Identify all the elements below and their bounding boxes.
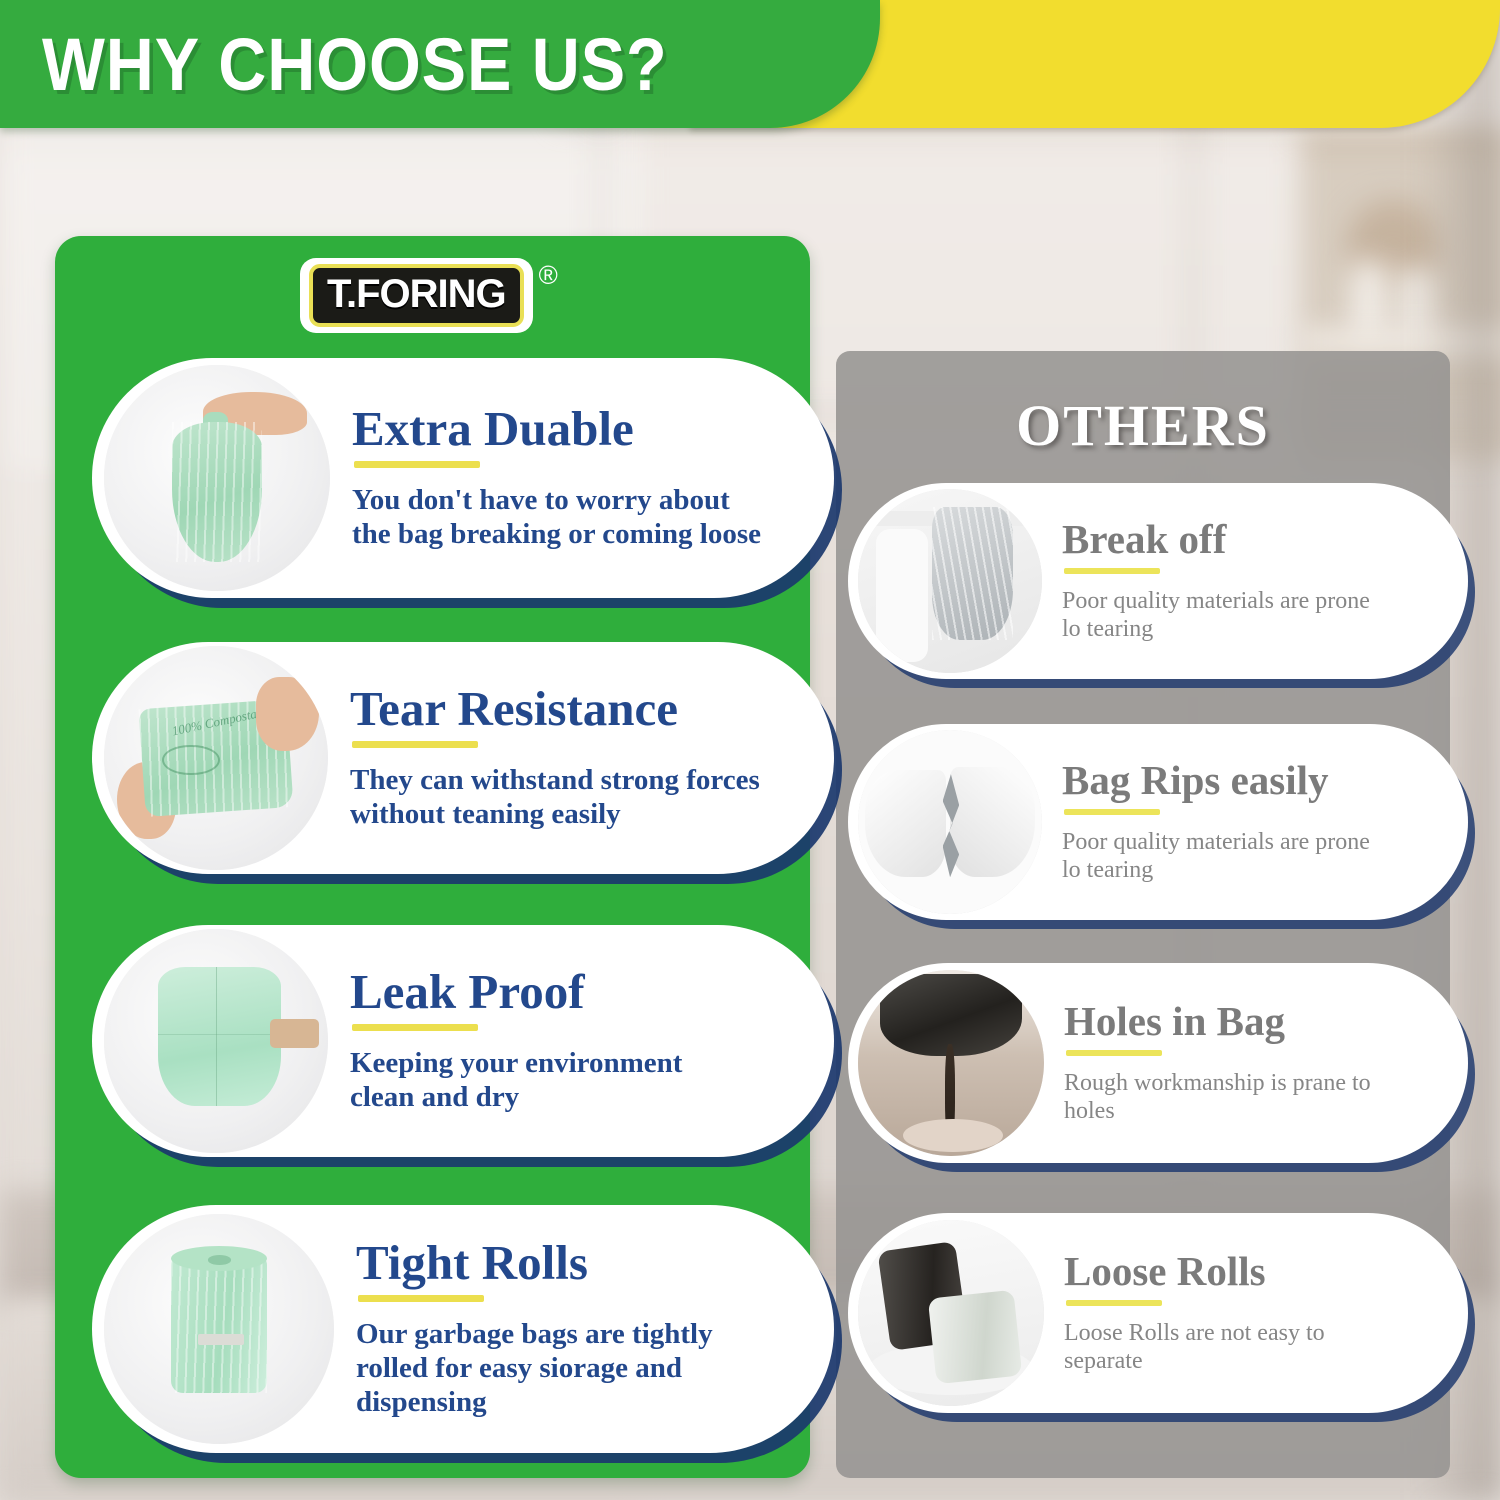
title-underline <box>352 741 478 748</box>
other-card-bag-rips-easily[interactable]: Bag Rips easily Poor quality materials a… <box>848 724 1468 920</box>
title-underline <box>1064 809 1160 815</box>
other-title: Break off <box>1062 519 1444 561</box>
feature-card-text: Leak Proof Keeping your environment clea… <box>328 967 804 1115</box>
feature-card-tear-resistance[interactable]: 100% Compostable Tear Resistance They ca… <box>92 642 834 874</box>
other-title: Holes in Bag <box>1064 1001 1444 1043</box>
other-title: Loose Rolls <box>1064 1251 1444 1293</box>
feature-card-text: Tight Rolls Our garbage bags are tightly… <box>334 1238 804 1420</box>
other-card-text: Loose Rolls Loose Rolls are not easy to … <box>1044 1251 1444 1375</box>
feature-body: They can withstand strong forces without… <box>350 764 770 832</box>
feature-card-text: Extra Duable You don't have to worry abo… <box>330 404 804 552</box>
bag-holding-water-photo <box>104 929 328 1153</box>
feature-title: Tight Rolls <box>356 1238 804 1288</box>
other-body: Poor quality materials are prone lo tear… <box>1062 587 1392 643</box>
other-card-loose-rolls[interactable]: Loose Rolls Loose Rolls are not easy to … <box>848 1213 1468 1413</box>
other-card-text: Break off Poor quality materials are pro… <box>1042 519 1444 643</box>
other-card-holes-in-bag[interactable]: Holes in Bag Rough workmanship is prane … <box>848 963 1468 1163</box>
hand-holding-green-bag-photo <box>104 365 330 591</box>
logo-plate: T.FORING <box>300 258 533 333</box>
black-bag-leaking-photo <box>858 970 1044 1156</box>
other-body: Loose Rolls are not easy to separate <box>1064 1319 1384 1375</box>
feature-card-tight-rolls[interactable]: Tight Rolls Our garbage bags are tightly… <box>92 1205 834 1453</box>
title-underline <box>1066 1050 1162 1056</box>
other-body: Rough workmanship is prane to holes <box>1064 1069 1384 1125</box>
feature-title: Leak Proof <box>350 967 804 1017</box>
title-underline <box>1066 1300 1162 1306</box>
title-underline <box>1064 568 1160 574</box>
other-card-text: Bag Rips easily Poor quality materials a… <box>1042 760 1444 884</box>
ripped-white-bag-photo <box>858 730 1042 914</box>
title-underline <box>354 461 480 468</box>
feature-title: Extra Duable <box>352 404 804 454</box>
feature-body: Our garbage bags are tightly rolled for … <box>356 1318 756 1420</box>
logo-inner-plate: T.FORING <box>309 264 524 327</box>
loose-rolls-photo <box>858 1220 1044 1406</box>
header-banner: WHY CHOOSE US? <box>0 0 880 128</box>
feature-card-leak-proof[interactable]: Leak Proof Keeping your environment clea… <box>92 925 834 1157</box>
title-underline <box>352 1024 478 1031</box>
tight-green-roll-photo <box>104 1214 334 1444</box>
other-title: Bag Rips easily <box>1062 760 1444 802</box>
hands-stretching-compostable-bag-photo: 100% Compostable <box>104 646 328 870</box>
title-underline <box>358 1295 484 1302</box>
other-body: Poor quality materials are prone lo tear… <box>1062 828 1392 884</box>
logo-text: T.FORING <box>327 272 506 316</box>
other-card-text: Holes in Bag Rough workmanship is prane … <box>1044 1001 1444 1125</box>
feature-body: Keeping your environment clean and dry <box>350 1047 750 1115</box>
feature-card-text: Tear Resistance They can withstand stron… <box>328 684 804 832</box>
other-card-break-off[interactable]: Break off Poor quality materials are pro… <box>848 483 1468 679</box>
brand-logo: T.FORING ® <box>300 258 558 333</box>
feature-body: You don't have to worry about the bag br… <box>352 484 762 552</box>
feature-title: Tear Resistance <box>350 684 804 734</box>
others-title: OTHERS <box>836 392 1450 459</box>
registered-trademark-icon: ® <box>539 260 558 291</box>
page-title: WHY CHOOSE US? <box>42 22 668 107</box>
feature-card-extra-duable[interactable]: Extra Duable You don't have to worry abo… <box>92 358 834 598</box>
clear-bag-breaking-photo <box>858 489 1042 673</box>
